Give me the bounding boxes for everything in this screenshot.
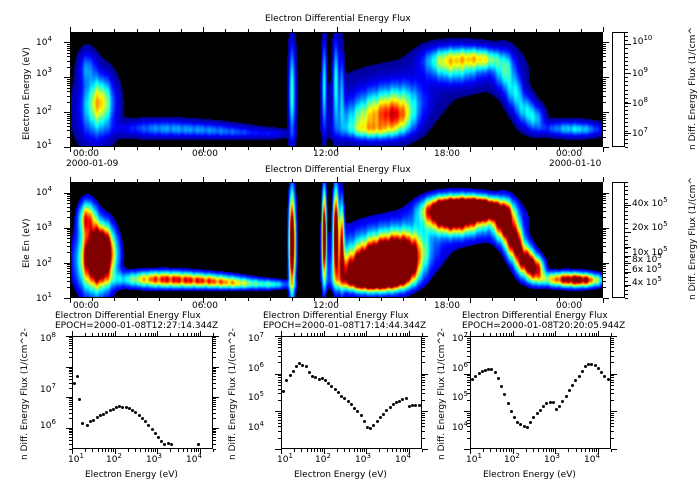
y-tickmark-right [422,423,425,424]
x-tickmark-top [159,179,160,182]
x-tickmark [137,147,138,150]
x-tickmark-top [102,333,103,336]
y-tickmark [67,217,70,218]
data-point [295,365,298,368]
x-tickmark [270,147,271,150]
x-tickmark [92,449,93,452]
colorbar-minor-tick [625,143,628,144]
data-point [154,432,157,435]
x-tickmark-top [337,177,338,182]
x-tickmark-top [603,177,604,182]
y-tickmark-right [603,112,609,113]
y-tickmark [275,374,281,375]
x-tickmark-top [492,29,493,32]
y-tickmark [69,402,72,403]
y-tickmark [467,380,470,381]
x-tickmark [514,147,515,150]
y-tickmark [67,116,70,117]
y-tickmark-right [611,449,617,450]
x-tickmark-top [159,29,160,32]
y-tickmark [67,266,70,267]
x-tickmark-top [137,29,138,32]
x-tickmark-top [187,333,188,336]
y-tickmark [467,389,470,390]
x-tickmark-top [225,29,226,32]
x-tickmark-top [137,179,138,182]
y-tickmark [464,336,470,337]
x-tickmark [492,147,493,150]
y-tickmark [67,233,70,234]
y-tickmark [467,413,470,414]
x-tickmark-top [492,179,493,182]
x-tickmark [337,449,338,452]
data-point [73,382,76,385]
data-point [555,408,558,411]
spectrogram-canvas [71,183,603,298]
x-tickmark-top [425,29,426,32]
spectrum-2-ytick-6: 106 [248,361,264,374]
y-tickmark [67,287,70,288]
y-tickmark [67,48,70,49]
data-point [289,374,292,377]
y-tickmark [69,449,72,450]
y-tickmark [69,431,72,432]
x-tickmark-top [203,177,204,182]
data-point [510,410,513,413]
x-tickmark-top [553,333,554,336]
y-tickmark [278,338,281,339]
y-tickmark [278,377,281,378]
x-tickmark [178,449,179,452]
colorbar-minor-tick [625,294,628,295]
x-tickmark [292,298,293,301]
x-tickmark [392,449,393,452]
colorbar-minor-tick [625,61,628,62]
x-tickmark-top [170,333,171,336]
spectrum-1-plot-area [72,336,213,449]
y-tickmark [467,344,470,345]
colorbar-minor-tick [625,277,628,278]
colorbar-minor-tick [625,236,628,237]
data-point [170,443,173,446]
y-tickmark-right [213,406,216,407]
y-tickmark [69,440,72,441]
top-xtick-2: 12:00 [313,149,339,159]
spectrum-2-ytick-7: 107 [248,331,264,344]
y-tickmark [67,264,70,265]
x-tickmark [225,298,226,301]
colorbar-minor-tick [625,207,628,208]
x-tickmark-top [307,333,308,336]
data-point [147,424,150,427]
middle-xtick-1: 06:00 [192,301,218,311]
y-tickmark-right [213,413,216,414]
y-tickmark-right [422,362,425,363]
data-point [603,375,606,378]
colorbar-minor-tick [625,211,628,212]
data-point [594,364,597,367]
data-point [500,385,503,388]
x-tickmark-top [409,331,410,336]
x-tickmark-top [317,333,318,336]
x-tickmark-top [403,333,404,336]
y-tickmark-right [213,431,216,432]
y-tickmark-right [422,389,425,390]
y-tickmark-right [603,42,609,43]
x-tickmark-top [128,333,129,336]
y-tickmark-right [213,409,216,410]
y-tickmark-right [213,376,216,377]
y-tickmark-right [603,120,606,121]
x-tickmark-top [585,333,586,336]
x-tickmark-top [596,333,597,336]
x-tickmark-top [294,333,295,336]
x-tickmark [536,298,537,301]
colorbar-minor-tick [625,286,628,287]
y-tickmark [278,342,281,343]
middle-y-axis-label: Ele En (eV) [22,218,32,268]
y-tickmark [69,337,72,338]
y-tickmark-right [611,411,617,412]
colorbar-minor-tick [625,94,628,95]
y-tickmark-right [422,375,425,376]
y-tickmark-right [603,231,606,232]
y-tickmark-right [603,298,609,299]
y-tickmark [67,207,70,208]
y-tickmark-right [611,340,614,341]
y-tickmark [67,137,70,138]
x-tickmark-top [349,333,350,336]
y-tickmark-right [422,413,425,414]
y-tickmark-right [603,91,606,92]
x-tickmark-top [314,29,315,32]
y-tickmark-right [603,203,606,204]
y-tickmark [67,67,70,68]
y-tickmark [69,373,72,374]
y-tickmark-right [213,429,216,430]
spectrum-3-x-axis-label: Electron Energy (eV) [483,470,576,480]
y-tickmark-right [422,351,425,352]
middle-panel-title: Electron Differential Energy Flux [265,165,411,175]
y-tickmark [278,438,281,439]
x-tickmark [170,449,171,452]
x-tickmark-top [113,333,114,336]
y-tickmark [67,123,70,124]
x-tickmark-top [538,333,539,336]
colorbar-minor-tick [625,135,628,136]
y-tickmark [64,193,70,194]
spectrum-2-plot-area [281,336,422,449]
x-tickmark-top [337,27,338,32]
spectrum-2-xtick-4: 104 [395,452,411,465]
x-tickmark-top [546,333,547,336]
y-tickmark-right [603,79,606,80]
data-point [285,379,288,382]
x-tickmark-top [203,27,204,32]
spectrum-2-epoch: EPOCH=2000-01-08T17:14:44.344Z [263,321,426,331]
y-tickmark-right [422,356,425,357]
y-tickmark [69,368,72,369]
y-tickmark-right [603,252,606,253]
y-tickmark [66,428,72,429]
data-point [376,420,379,423]
data-point [78,398,81,401]
x-tickmark-top [581,333,582,336]
x-tickmark [470,147,471,152]
x-tickmark [301,449,302,452]
y-tickmark-right [422,338,425,339]
y-tickmark-right [422,400,425,401]
data-point [350,403,353,406]
y-tickmark-right [422,374,428,375]
x-tickmark [85,449,86,452]
colorbar-minor-tick [625,114,628,115]
y-tickmark-right [213,368,216,369]
y-tickmark-right [603,130,606,131]
y-tickmark-right [213,367,219,368]
x-tickmark-top [198,333,199,336]
y-tickmark-right [603,102,606,103]
data-point [360,414,363,417]
x-tickmark-top [533,333,534,336]
y-tickmark [64,42,70,43]
y-tickmark-right [422,438,425,439]
colorbar-minor-tick [625,44,628,45]
x-tickmark [248,147,249,150]
x-tickmark [114,298,115,301]
x-tickmark-top [314,333,315,336]
y-tickmark [467,340,470,341]
y-tickmark [464,449,470,450]
y-tickmark [275,449,281,450]
y-tickmark [69,398,72,399]
x-tickmark-top [503,333,504,336]
y-tickmark [67,114,70,115]
data-point [372,424,375,427]
data-point [369,427,372,430]
y-tickmark-right [213,383,216,384]
data-point [490,368,493,371]
x-tickmark-top [200,331,201,336]
colorbar-minor-tick [625,261,628,262]
y-tickmark [67,102,70,103]
colorbar-minor-tick [625,252,628,253]
spectrum-2-xtick-1: 101 [277,452,293,465]
x-tickmark [536,147,537,150]
x-tickmark [292,147,293,150]
data-point [600,371,603,374]
y-tickmark [69,434,72,435]
x-tickmark-top [357,333,358,336]
y-tickmark-right [213,352,216,353]
x-tickmark [270,298,271,301]
data-point [363,420,366,423]
y-tickmark [67,88,70,89]
colorbar-minor-tick [625,73,628,74]
x-tickmark-top [589,333,590,336]
y-tickmark [69,432,72,433]
spectrum-3-ytick-6: 106 [452,361,468,374]
y-tickmark-right [213,339,216,340]
y-tickmark-right [611,377,614,378]
y-tickmark [67,277,70,278]
y-tickmark [67,235,70,236]
spectrogram-canvas [71,33,603,147]
y-tickmark [467,362,470,363]
colorbar-minor-tick [625,102,628,103]
data-point [561,400,564,403]
y-tickmark [467,377,470,378]
y-tickmark [69,413,72,414]
data-point [305,365,308,368]
x-tickmark-top [381,179,382,182]
x-tickmark-top [105,333,106,336]
y-tickmark [467,400,470,401]
y-tickmark [278,420,281,421]
colorbar-minor-tick [625,219,628,220]
y-tickmark-right [213,348,216,349]
x-tickmark-top [470,177,471,182]
y-tickmark [67,203,70,204]
top-xtick-3: 18:00 [434,149,460,159]
x-tickmark-top [387,333,388,336]
spectrum-1-ytick-8: 108 [40,331,56,344]
data-point [353,407,356,410]
y-tickmark-right [603,77,609,78]
y-tickmark-right [422,420,425,421]
x-tickmark-top [509,333,510,336]
y-tickmark-right [611,420,614,421]
y-tickmark-right [422,347,425,348]
x-tickmark [379,449,380,452]
y-tickmark-right [603,67,606,68]
y-tickmark-right [213,371,216,372]
x-tickmark [568,449,569,452]
top-cbar-tick-10: 1010 [632,34,652,47]
y-tickmark [467,351,470,352]
x-tickmark [70,298,71,303]
y-tickmark [67,252,70,253]
y-tickmark [467,431,470,432]
y-tickmark-right [603,116,606,117]
data-point [76,375,79,378]
data-point [545,402,548,405]
y-tickmark [69,357,72,358]
x-tickmark-top [301,333,302,336]
top-colorbar-label: n Diff. Energy Flux (1/(cm^ [688,27,697,150]
data-point [292,370,295,373]
x-tickmark [307,449,308,452]
spectrum-1-xtick-2: 102 [106,452,122,465]
spectrum-1-ytick-7: 107 [40,382,56,395]
y-tickmark [278,362,281,363]
colorbar-minor-tick [625,90,628,91]
y-tickmark [67,53,70,54]
y-tickmark-right [611,380,614,381]
spectrum-1-xtick-3: 103 [146,452,162,465]
colorbar-minor-tick [625,77,628,78]
x-tickmark [492,298,493,301]
x-tickmark-top [114,29,115,32]
x-tickmark-top [536,179,537,182]
spectrum-3-ytick-5: 105 [452,390,468,403]
x-tickmark [98,449,99,452]
top-plot-area [70,32,603,147]
x-tickmark [526,449,527,452]
x-tickmark [135,449,136,452]
spectrum-2-xtick-3: 103 [355,452,371,465]
y-tickmark-right [422,393,425,394]
y-tickmark [64,298,70,299]
x-tickmark-top [506,333,507,336]
y-tickmark-right [213,440,216,441]
y-tickmark-right [422,377,425,378]
x-tickmark [183,449,184,452]
y-tickmark [69,345,72,346]
y-tickmark [275,336,281,337]
y-tickmark-right [213,437,216,438]
x-tickmark-top [248,179,249,182]
x-tickmark [425,147,426,150]
colorbar-minor-tick [625,131,628,132]
data-point [334,388,337,391]
y-tickmark-right [603,53,606,54]
y-tickmark [275,411,281,412]
x-tickmark-top [470,27,471,32]
y-tickmark [67,46,70,47]
x-tickmark-top [151,333,152,336]
y-tickmark-right [603,264,606,265]
y-tickmark [464,411,470,412]
colorbar-minor-tick [625,139,628,140]
x-tickmark [381,298,382,301]
y-tickmark [467,417,470,418]
x-tickmark-top [145,333,146,336]
x-tickmark-top [181,29,182,32]
y-tickmark [67,198,70,199]
x-tickmark-top [483,333,484,336]
x-tickmark-top [311,333,312,336]
spectrum-1-ytick-6: 106 [40,418,56,431]
y-tickmark [67,118,70,119]
y-tickmark-right [603,193,609,194]
y-tickmark-right [422,336,428,337]
y-tickmark [278,340,281,341]
data-point [405,397,408,400]
data-point [513,416,516,419]
data-point [151,428,154,431]
y-tickmark [69,370,72,371]
x-tickmark [490,449,491,452]
y-tickmark-right [611,426,614,427]
y-tickmark-right [213,444,216,445]
x-tickmark-top [135,333,136,336]
y-tickmark [66,367,72,368]
x-tickmark-top [490,333,491,336]
y-tickmark [278,389,281,390]
y-tickmark [67,231,70,232]
y-tickmark-right [603,96,606,97]
y-tickmark [69,429,72,430]
x-tickmark [181,298,182,301]
colorbar-minor-tick [625,147,628,148]
y-tickmark [69,371,72,372]
y-tickmark [67,120,70,121]
y-tickmark [69,404,72,405]
x-tickmark-top [581,179,582,182]
y-tickmark-right [611,393,614,394]
spectrum-3-title: Electron Differential Energy Flux [462,311,608,321]
